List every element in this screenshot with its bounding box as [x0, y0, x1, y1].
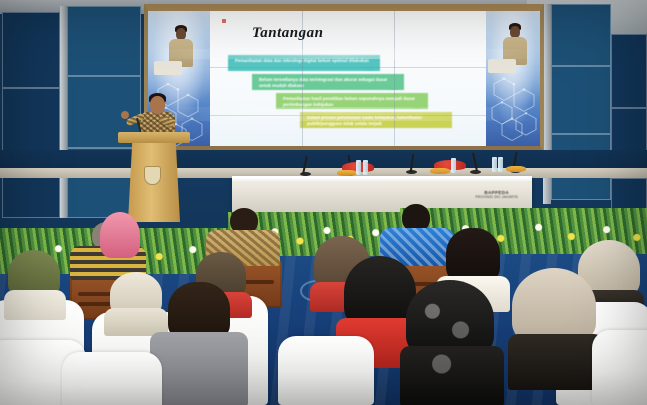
conference-hall-photo: Tantangan Pemanfaatan data dan teknologi… — [0, 0, 647, 405]
video-panel-right-feed — [486, 11, 540, 146]
led-video-wall: Tantangan Pemanfaatan data dan teknologi… — [144, 4, 544, 152]
audience-person — [100, 212, 140, 258]
podium-top — [118, 132, 190, 143]
panel-seam — [210, 115, 486, 116]
slide-corner-mark — [222, 19, 226, 23]
person-torso — [150, 332, 248, 405]
chair-cover — [592, 330, 647, 405]
person-torso — [508, 334, 604, 390]
audience-person — [150, 282, 248, 404]
presentation-slide: Tantangan Pemanfaatan data dan teknologi… — [210, 11, 486, 146]
water-bottle — [498, 157, 503, 172]
person-torso — [4, 290, 66, 320]
slide-box-3-arrow-icon — [412, 108, 422, 109]
feed-podium-right — [488, 59, 516, 73]
table-fruit-tray — [430, 168, 450, 174]
audience-person — [4, 250, 66, 316]
panel-seam — [210, 67, 486, 68]
wall-panel-left-4 — [67, 6, 141, 76]
audience-person — [400, 280, 504, 405]
panel-seam — [394, 11, 395, 146]
presenter-left-hand — [121, 111, 129, 119]
wall-panel-right-2 — [551, 66, 611, 134]
wall-panel-right-1 — [551, 4, 611, 66]
water-bottle — [356, 160, 361, 175]
wall-pilaster-left — [60, 6, 67, 218]
table-fruit-tray — [506, 166, 526, 172]
video-panel-center-slide: Tantangan Pemanfaatan data dan teknologi… — [210, 11, 486, 146]
wall-panel-right-4 — [611, 34, 647, 108]
venue-sign: BAPPEDA PROVINSI DKI JAKARTA — [475, 190, 518, 199]
person-hijab — [512, 268, 596, 344]
feed-podium-left — [154, 61, 182, 75]
slide-box-1: Pemanfaatan data dan teknologi digital b… — [228, 55, 380, 71]
wall-panel-left-1 — [2, 12, 60, 88]
table-top-edge — [232, 178, 532, 183]
slide-box-4-text: Dalam proses perumusan suatu kebijakan, … — [307, 115, 422, 126]
slide-box-2-text: Belum tersedianya data terintegrasi dan … — [259, 77, 387, 88]
slide-box-2: Belum tersedianya data terintegrasi dan … — [252, 74, 404, 90]
chair-cover — [62, 352, 162, 405]
chair-cover — [278, 336, 374, 405]
wooden-podium — [118, 132, 190, 222]
water-bottle — [492, 157, 497, 172]
panel-seam — [302, 11, 303, 146]
wall-panel-left-2 — [2, 88, 60, 156]
water-bottle — [363, 160, 368, 175]
person-torso — [400, 346, 504, 405]
audience-person — [508, 268, 604, 388]
presenter-head — [150, 96, 165, 114]
person-hijab — [100, 212, 140, 258]
venue-sign-line2: PROVINSI DKI JAKARTA — [475, 195, 518, 199]
slide-title: Tantangan — [252, 25, 323, 42]
water-bottle — [451, 158, 456, 173]
table-mic-base — [406, 170, 417, 174]
slide-box-2-arrow-icon — [388, 89, 398, 90]
slide-box-1-arrow-icon — [364, 70, 374, 71]
slide-box-3: Pemanfaatan hasil penelitian belum sepen… — [276, 93, 428, 109]
podium-emblem-crest — [144, 166, 161, 185]
